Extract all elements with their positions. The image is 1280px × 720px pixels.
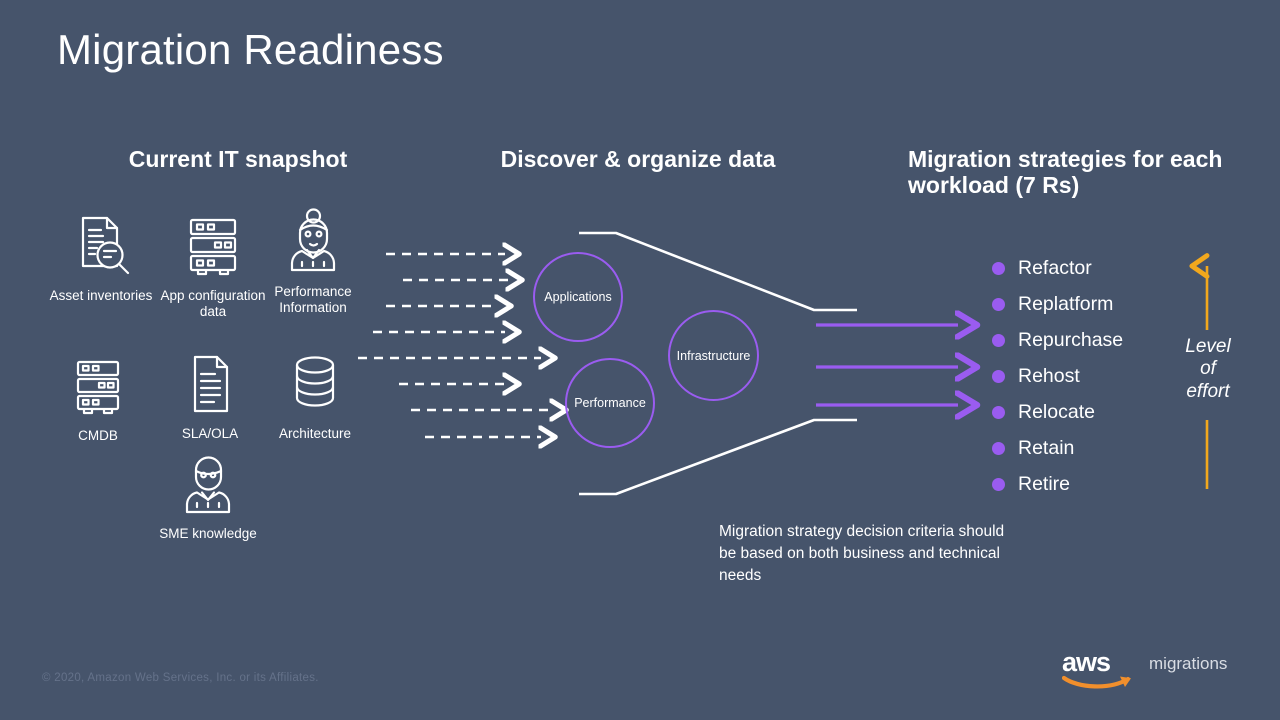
list-item: Rehost: [992, 358, 1123, 394]
strategy-label: Replatform: [1018, 293, 1113, 316]
level-of-effort-label: Level of effort: [1160, 336, 1256, 403]
bullet-icon: [992, 442, 1005, 455]
strategy-label: Retire: [1018, 473, 1070, 496]
effort-line-1: Level: [1160, 336, 1256, 358]
decision-criteria-note: Migration strategy decision criteria sho…: [719, 521, 1009, 587]
aws-logo: aws migrations: [1062, 649, 1227, 691]
migration-strategies-list: Refactor Replatform Repurchase Rehost Re…: [992, 250, 1123, 502]
strategy-label: Rehost: [1018, 365, 1080, 388]
bullet-icon: [992, 478, 1005, 491]
bullet-icon: [992, 334, 1005, 347]
strategy-label: Relocate: [1018, 401, 1095, 424]
bullet-icon: [992, 370, 1005, 383]
list-item: Retain: [992, 430, 1123, 466]
strategy-label: Repurchase: [1018, 329, 1123, 352]
strategy-label: Retain: [1018, 437, 1074, 460]
bullet-icon: [992, 262, 1005, 275]
bubble-label: Applications: [544, 290, 611, 304]
list-item: Repurchase: [992, 322, 1123, 358]
bubble-label: Performance: [574, 396, 646, 410]
bullet-icon: [992, 298, 1005, 311]
copyright-text: © 2020, Amazon Web Services, Inc. or its…: [42, 672, 319, 684]
bubble-applications: Applications: [533, 252, 623, 342]
dashed-flow-arrows: [358, 254, 552, 437]
bubble-performance: Performance: [565, 358, 655, 448]
effort-line-2: of: [1160, 358, 1256, 380]
bullet-icon: [992, 406, 1005, 419]
list-item: Retire: [992, 466, 1123, 502]
strategy-label: Refactor: [1018, 257, 1092, 280]
effort-line-3: effort: [1160, 381, 1256, 403]
slide-canvas: Migration Readiness Current IT snapshot …: [0, 0, 1280, 720]
aws-wordmark: aws: [1062, 649, 1140, 676]
bubble-label: Infrastructure: [677, 349, 751, 363]
list-item: Replatform: [992, 286, 1123, 322]
aws-logo-subtitle: migrations: [1149, 654, 1227, 674]
strategy-output-arrows: [816, 325, 958, 405]
list-item: Relocate: [992, 394, 1123, 430]
bubble-infrastructure: Infrastructure: [668, 310, 759, 401]
list-item: Refactor: [992, 250, 1123, 286]
aws-wordmark-group: aws: [1062, 649, 1140, 691]
